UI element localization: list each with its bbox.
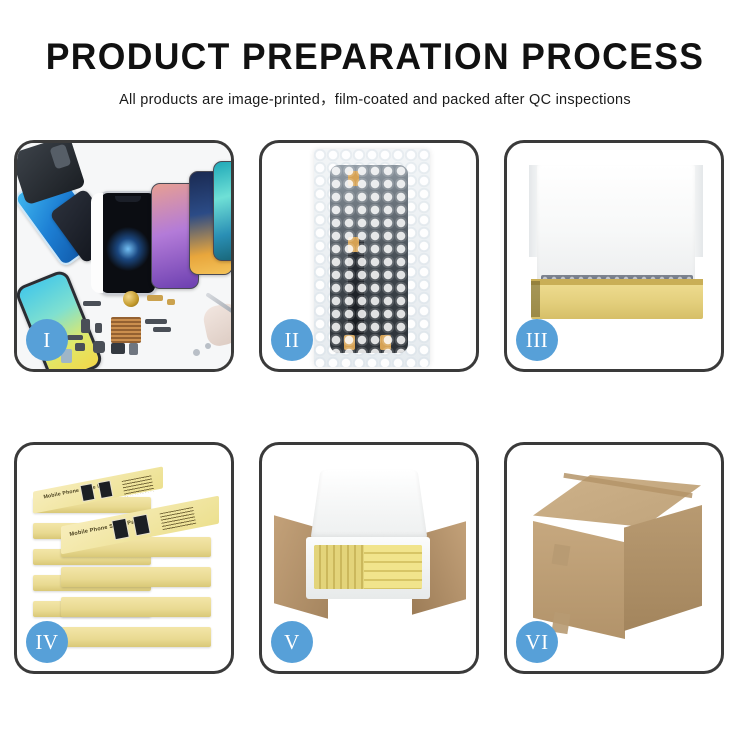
flex-cable-icon-2	[153, 327, 171, 332]
yellow-box-top-edge-icon	[531, 279, 703, 285]
spare-part-icon-4	[81, 319, 90, 333]
white-foam-lid-icon	[537, 165, 695, 283]
page-header: PRODUCT PREPARATION PROCESS All products…	[0, 38, 750, 109]
vibration-motor-icon	[123, 291, 139, 307]
flex-cable-icon-3	[67, 335, 83, 340]
spare-part-icon-6	[75, 343, 85, 351]
screw-icon-1	[193, 349, 200, 356]
screen-notch-icon	[115, 196, 141, 202]
process-step-panel-3: III	[504, 140, 724, 372]
stacked-box-front-4	[61, 627, 211, 647]
teal-swirl-phone-icon	[213, 161, 231, 261]
process-step-panel-2: II	[259, 140, 479, 372]
carton-tape-patch-icon-1	[552, 544, 571, 566]
process-step-panel-5: V	[259, 442, 479, 674]
speaker-module-icon	[93, 341, 105, 353]
process-steps-grid: I II	[14, 140, 736, 700]
step-badge-4: IV	[26, 621, 68, 663]
step-badge-1: I	[26, 319, 68, 361]
page-subtitle: All products are image-printed，film-coat…	[0, 88, 750, 109]
bubble-wrap-bag-icon	[314, 149, 430, 367]
camera-module-icon	[111, 343, 125, 354]
bubble-texture-overlay-icon	[330, 165, 408, 353]
step-badge-5: V	[271, 621, 313, 663]
spare-part-icon-1	[83, 301, 101, 306]
yellow-box-left-shadow-icon	[531, 281, 540, 317]
sealed-carton-front-icon	[533, 521, 625, 639]
sim-tray-icon	[129, 343, 138, 355]
yellow-inner-box-icon	[531, 279, 703, 319]
product-preparation-process-page: PRODUCT PREPARATION PROCESS All products…	[0, 0, 750, 750]
spare-part-icon-3	[167, 299, 175, 305]
process-step-panel-6: VI	[504, 442, 724, 674]
stacked-box-front-3	[61, 597, 211, 617]
yellow-boxes-inside-foam-icon	[314, 545, 422, 589]
screen-wallpaper-glow-icon	[105, 226, 151, 272]
page-title: PRODUCT PREPARATION PROCESS	[15, 38, 735, 77]
screen-white-edge-icon	[91, 193, 103, 293]
foam-cooler-lid-icon	[311, 470, 428, 539]
spare-part-icon-2	[147, 295, 163, 301]
process-step-panel-1: I	[14, 140, 234, 372]
step-badge-6: VI	[516, 621, 558, 663]
black-lcd-screen-icon	[99, 191, 157, 295]
process-step-panel-4: Mobile Phone Spare Parts Mobile Phone Sp…	[14, 442, 234, 674]
spare-part-icon-5	[95, 323, 102, 333]
step-badge-2: II	[271, 319, 313, 361]
screw-icon-2	[205, 343, 211, 349]
stacked-box-front-2	[61, 567, 211, 587]
flex-cable-icon-1	[145, 319, 167, 324]
step-badge-3: III	[516, 319, 558, 361]
screw-tray-icon	[111, 317, 141, 343]
open-carton-body-icon	[310, 583, 432, 655]
